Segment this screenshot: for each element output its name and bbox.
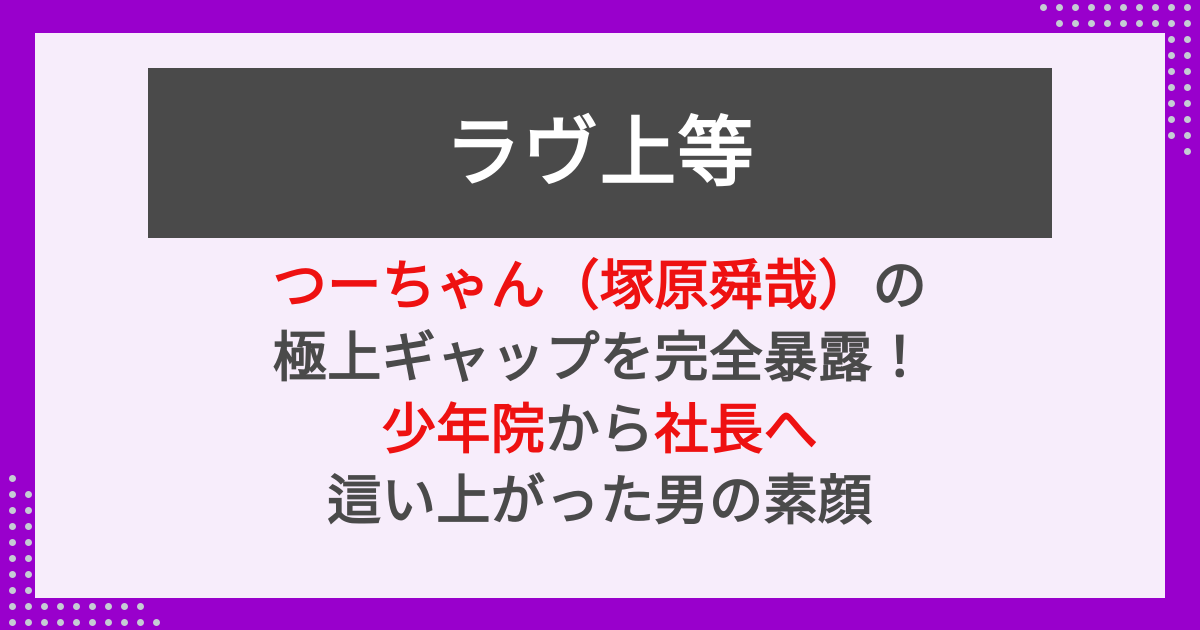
- decorative-dot: [1072, 20, 1079, 27]
- decorative-dot: [25, 603, 32, 610]
- decorative-dot: [9, 539, 16, 546]
- decorative-dot: [41, 603, 48, 610]
- decorative-dot: [1168, 36, 1175, 43]
- decorative-dot: [1168, 52, 1175, 59]
- decorative-dot: [25, 539, 32, 546]
- subtitle-highlight: つーちゃん（塚原舜哉）: [273, 254, 873, 317]
- decorative-dot: [1168, 116, 1175, 123]
- decorative-dot: [1184, 132, 1191, 139]
- decorative-dot: [1072, 4, 1079, 11]
- decorative-dot: [9, 587, 16, 594]
- decorative-dot: [1168, 84, 1175, 91]
- subtitle-text: の: [873, 254, 928, 317]
- decorative-dot: [25, 507, 32, 514]
- subtitle-highlight: 社長へ: [655, 398, 819, 461]
- decorative-dot: [1184, 100, 1191, 107]
- decorative-dot: [137, 603, 144, 610]
- subtitle-line: 這い上がった男の素顔: [35, 465, 1165, 537]
- decorative-dot: [1168, 68, 1175, 75]
- decorative-dot: [73, 619, 80, 626]
- title-banner: ラヴ上等: [148, 68, 1052, 238]
- decorative-dot: [41, 619, 48, 626]
- subtitle-highlight: 少年院: [382, 398, 546, 461]
- decorative-dot: [1104, 20, 1111, 27]
- decorative-dot: [1184, 36, 1191, 43]
- decorative-dot: [9, 555, 16, 562]
- decorative-dot: [25, 587, 32, 594]
- decorative-dot: [89, 619, 96, 626]
- decorative-dot: [1184, 84, 1191, 91]
- subtitle-line: 極上ギャップを完全暴露！: [35, 322, 1165, 394]
- eyecatch-card: ラヴ上等 つーちゃん（塚原舜哉）の極上ギャップを完全暴露！少年院から社長へ這い上…: [0, 0, 1200, 630]
- decorative-dot: [9, 491, 16, 498]
- decorative-dot: [1056, 20, 1063, 27]
- decorative-dot: [9, 507, 16, 514]
- decorative-dot: [9, 619, 16, 626]
- decorative-dot: [89, 603, 96, 610]
- decorative-dot: [1184, 68, 1191, 75]
- page-title: ラヴ上等: [445, 115, 755, 191]
- subtitle-text: 這い上がった男の素顔: [327, 469, 872, 532]
- decorative-dot: [25, 523, 32, 530]
- decorative-dot: [1104, 4, 1111, 11]
- decorative-dot: [1184, 4, 1191, 11]
- decorative-dot: [1152, 20, 1159, 27]
- subtitle-line: 少年院から社長へ: [35, 394, 1165, 466]
- decorative-dot: [1168, 132, 1175, 139]
- decorative-dot: [73, 603, 80, 610]
- decorative-dot: [1168, 4, 1175, 11]
- decorative-dot: [1136, 4, 1143, 11]
- decorative-dot: [9, 603, 16, 610]
- decorative-dot: [1168, 20, 1175, 27]
- subtitle-text: 極上ギャップを完全暴露！: [273, 326, 927, 389]
- decorative-dot: [25, 619, 32, 626]
- decorative-dot: [121, 603, 128, 610]
- subtitle-line: つーちゃん（塚原舜哉）の: [35, 250, 1165, 322]
- decorative-dot: [9, 475, 16, 482]
- decorative-dot: [57, 603, 64, 610]
- decorative-dot: [1184, 148, 1191, 155]
- decorative-dot: [1184, 20, 1191, 27]
- decorative-dot: [25, 555, 32, 562]
- decorative-dot: [25, 491, 32, 498]
- decorative-dot: [1040, 4, 1047, 11]
- decorative-dot: [105, 603, 112, 610]
- decorative-dot: [1168, 100, 1175, 107]
- decorative-dot: [1184, 116, 1191, 123]
- decorative-dot: [1088, 4, 1095, 11]
- decorative-dot: [1120, 4, 1127, 11]
- decorative-dot: [9, 571, 16, 578]
- decorative-dot: [9, 523, 16, 530]
- decorative-dot: [1056, 4, 1063, 11]
- subtitle-text: から: [545, 398, 654, 461]
- decorative-dot: [1184, 52, 1191, 59]
- decorative-dot: [1136, 20, 1143, 27]
- decorative-dot: [1152, 4, 1159, 11]
- decorative-dot: [1088, 20, 1095, 27]
- decorative-dot: [25, 571, 32, 578]
- decorative-dot: [137, 619, 144, 626]
- decorative-dot: [121, 619, 128, 626]
- decorative-dot: [1120, 20, 1127, 27]
- subtitle-block: つーちゃん（塚原舜哉）の極上ギャップを完全暴露！少年院から社長へ這い上がった男の…: [35, 250, 1165, 537]
- decorative-dot: [105, 619, 112, 626]
- decorative-dot: [153, 619, 160, 626]
- decorative-dot: [57, 619, 64, 626]
